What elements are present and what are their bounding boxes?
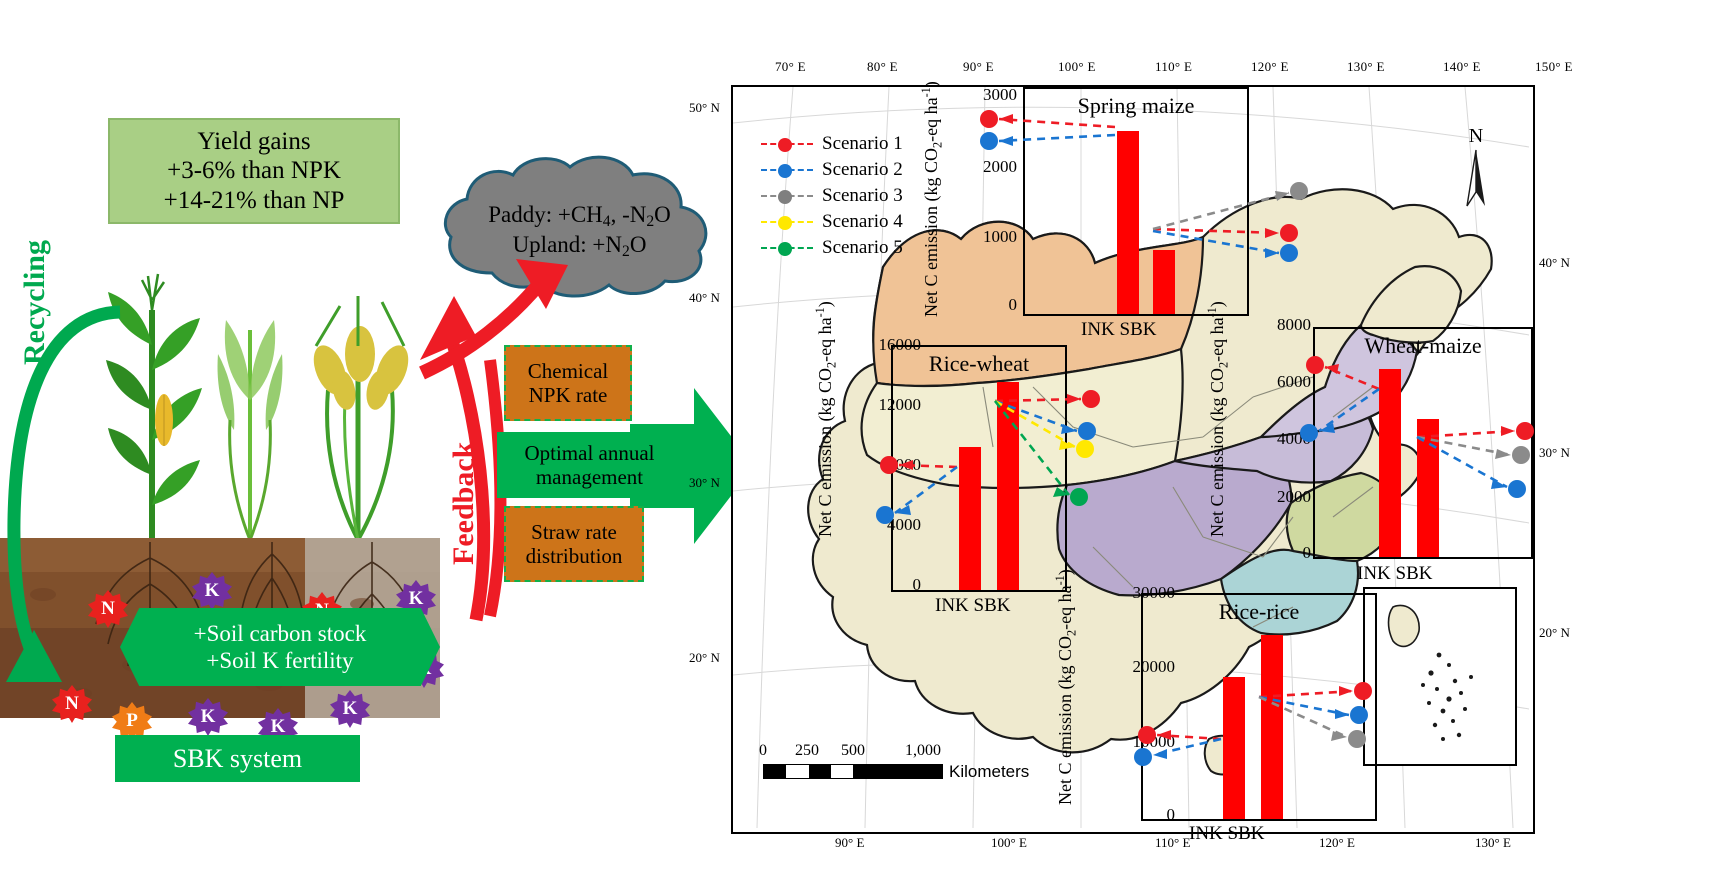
rice-wheat-x-label: INK SBK [935,595,1010,617]
legend-line-2 [761,169,813,171]
lon-label-top-1: 80° E [867,59,898,75]
rice-rice-x-label: INK SBK [1189,823,1264,845]
lat-label-left-3: 20° N [689,650,720,666]
chemical-npk-box: Chemical NPK rate [504,345,632,421]
soil-banner-line-2: +Soil K fertility [206,647,353,674]
legend-item-scenario-2: Scenario 2 [761,157,903,183]
wheat-maize-y-label: Net C emission (kg CO2-eq ha-1) [1205,301,1232,537]
lon-label-top-5: 120° E [1251,59,1289,75]
china-map-panel: 70° E 80° E 90° E 100° E 110° E 120° E 1… [723,55,1728,886]
legend-label-4: Scenario 4 [822,209,903,236]
north-label: N [1463,125,1489,148]
lon-label-top-8: 150° E [1535,59,1573,75]
lat-label-left-0: 50° N [689,100,720,116]
legend-dot-4 [778,216,792,230]
feedback-label: Feedback [447,442,481,565]
yield-line-3: +14-21% than NP [164,186,345,216]
yield-line-2: +3-6% than NPK [167,156,341,186]
lon-label-top-6: 130° E [1347,59,1385,75]
lon-label-bottom-1: 100° E [991,835,1027,851]
north-arrow-icon [1463,148,1489,210]
legend-dot-2 [778,164,792,178]
lat-label-right-2: 20° N [1539,625,1570,641]
straw-rate-label: Straw rate distribution [506,520,642,568]
lon-label-top-0: 70° E [775,59,806,75]
yield-gains-box: Yield gains +3-6% than NPK +14-21% than … [108,118,400,224]
legend-label-5: Scenario 5 [822,235,903,262]
legend-item-scenario-5: Scenario 5 [761,235,903,261]
optimal-management-label: Optimal annual management [497,441,682,489]
lon-label-bottom-3: 120° E [1319,835,1355,851]
legend-item-scenario-3: Scenario 3 [761,183,903,209]
legend-dot-5 [778,242,792,256]
soil-benefit-banner: +Soil carbon stock +Soil K fertility [120,608,440,686]
lon-label-bottom-4: 130° E [1475,835,1511,851]
yield-line-1: Yield gains [197,127,310,157]
cloud-line-1: Paddy: +CH4, -N2O [437,201,722,231]
lon-label-top-7: 140° E [1443,59,1481,75]
spring-maize-annotations [963,105,1383,295]
rice-rice-annotations [1103,603,1403,803]
legend-item-scenario-1: Scenario 1 [761,131,903,157]
legend-label-2: Scenario 2 [822,157,903,184]
rice-wheat-annotations [853,355,1113,565]
lat-label-left-1: 40° N [689,290,720,306]
scale-units-label: Kilometers [949,762,1029,782]
scale-tick-3: 1,000 [905,742,941,760]
scenario-legend: Scenario 1 Scenario 2 Scenario 3 Scenari… [761,131,903,261]
legend-line-3 [761,195,813,197]
spring-maize-x-label: INK SBK [1081,319,1156,341]
wheat-maize-ytick-8000: 8000 [1229,315,1311,335]
scale-bar-graphic [763,764,943,779]
straw-rate-box: Straw rate distribution [504,506,644,582]
cloud-text: Paddy: +CH4, -N2O Upland: +N2O [437,201,722,262]
legend-dot-1 [778,138,792,152]
legend-line-1 [761,143,813,145]
wheat-maize-x-label: INK SBK [1357,563,1432,585]
lon-label-top-3: 100° E [1058,59,1096,75]
lon-label-bottom-2: 110° E [1155,835,1190,851]
sbk-system-label: SBK system [173,744,302,774]
legend-line-4 [761,221,813,223]
spring-maize-ytick-3000: 3000 [945,85,1017,105]
rice-rice-y-label: Net C emission (kg CO2-eq ha-1) [1053,569,1080,805]
sbk-system-box: SBK system [115,735,360,782]
wheat-plant-icon [218,320,283,540]
scale-tick-1: 250 [795,742,819,760]
lon-label-bottom-0: 90° E [835,835,864,851]
soil-banner-line-1: +Soil carbon stock [194,620,367,647]
north-arrow: N [1463,125,1489,215]
legend-dot-3 [778,190,792,204]
scale-tick-2: 500 [841,742,865,760]
spring-maize-y-label: Net C emission (kg CO2-eq ha-1) [919,81,946,317]
concept-diagram-panel: Yield gains +3-6% than NPK +14-21% than … [0,0,740,886]
legend-label-1: Scenario 1 [822,131,903,158]
wheat-maize-annotations [1261,337,1541,557]
legend-line-5 [761,247,813,249]
chemical-npk-label: Chemical NPK rate [506,359,630,407]
spring-maize-ytick-0: 0 [945,295,1017,315]
optimal-management-box: Optimal annual management [497,432,682,498]
legend-label-3: Scenario 3 [822,183,903,210]
lat-label-right-0: 40° N [1539,255,1570,271]
map-frame: Scenario 1 Scenario 2 Scenario 3 Scenari… [731,85,1535,834]
recycling-label: Recycling [18,325,52,365]
lat-label-left-2: 30° N [689,475,720,491]
lon-label-top-2: 90° E [963,59,994,75]
legend-item-scenario-4: Scenario 4 [761,209,903,235]
scale-bar: 0 250 500 1,000 Kilometers [763,742,943,779]
lon-label-top-4: 110° E [1155,59,1192,75]
lat-label-right-1: 30° N [1539,445,1570,461]
scale-tick-0: 0 [759,742,767,760]
